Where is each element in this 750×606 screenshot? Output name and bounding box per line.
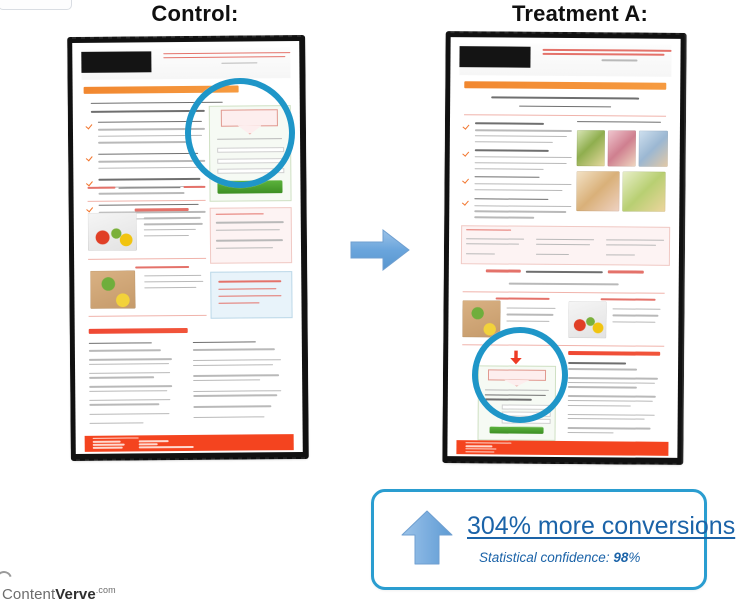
result-confidence: Statistical confidence: 98%: [479, 550, 640, 565]
header-tagline: [542, 47, 671, 66]
contentverve-watermark: ContentVerve.com: [2, 585, 116, 603]
confidence-value: 98: [613, 550, 628, 565]
tip-box: [210, 271, 292, 319]
package-block-2[interactable]: [568, 297, 665, 344]
faq-column-left: [88, 342, 180, 433]
page-footer: [457, 440, 669, 455]
result-callout: 304% more conversions Statistical confid…: [371, 489, 707, 590]
faq-heading: [568, 351, 660, 356]
offer-line: [87, 185, 205, 194]
highlight-circle-treatment: [472, 327, 568, 423]
testimonials-box: [460, 225, 669, 266]
page-footer: [85, 434, 294, 452]
brand-tld: .com: [96, 585, 116, 595]
highlight-circle-control: [185, 78, 295, 188]
package-block-1[interactable]: [87, 206, 205, 256]
confidence-label: Statistical confidence:: [479, 550, 610, 565]
comparison-canvas: Control: Treatment A:: [0, 0, 750, 606]
right-arrow-icon: [349, 226, 411, 274]
site-logo: [81, 51, 152, 72]
cropped-toolbar-chip: [0, 0, 72, 10]
header-tagline: [163, 50, 290, 68]
page-headline: [464, 81, 666, 89]
testimonials-box: [210, 208, 292, 264]
up-arrow-icon: [400, 509, 454, 567]
column-heading-control: Control:: [95, 1, 295, 27]
brand-first: Content: [2, 586, 55, 603]
faq-column-right: [193, 341, 289, 432]
faq-column-right: [567, 362, 664, 438]
brand-second: Verve: [55, 586, 96, 603]
food-gallery: [576, 121, 669, 222]
site-logo: [460, 46, 531, 67]
offer-line: [486, 270, 647, 280]
confidence-unit: %: [628, 550, 640, 565]
result-headline: 304% more conversions: [467, 512, 735, 541]
package-block-2[interactable]: [88, 264, 206, 314]
column-heading-treatment: Treatment A:: [470, 1, 690, 27]
faq-heading: [88, 328, 188, 334]
cta-button[interactable]: [489, 427, 544, 435]
